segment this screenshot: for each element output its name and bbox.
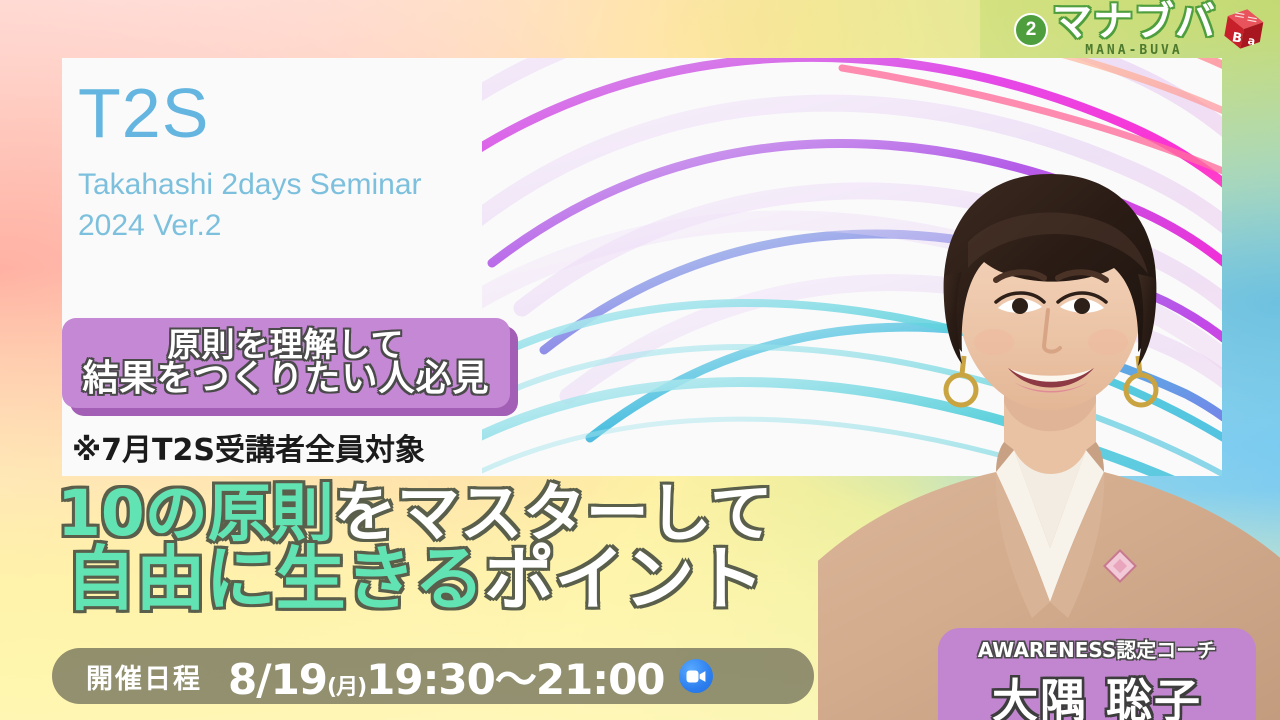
- hero-subtitle-line-1: Takahashi 2days Seminar: [78, 164, 422, 205]
- schedule-pill: 開催日程 8/19(月)19:30〜21:00: [52, 648, 814, 704]
- schedule-value: 8/19(月)19:30〜21:00: [228, 646, 665, 707]
- brand-name-roman: MANA-BUVA: [1085, 43, 1182, 58]
- schedule-time: 19:30〜21:00: [366, 646, 664, 707]
- presenter-name: 大隅 聡子: [992, 665, 1202, 720]
- hero-subtitle-line-2: 2024 Ver.2: [78, 205, 422, 246]
- highlight-badge: 原則を理解して 結果をつくりたい人必見: [62, 318, 518, 416]
- brand-cube-icon: B a: [1222, 5, 1266, 56]
- highlight-badge-body: 原則を理解して 結果をつくりたい人必見: [62, 318, 510, 408]
- brand-badge-icon: 2: [1014, 13, 1048, 47]
- schedule-label: 開催日程: [86, 657, 202, 696]
- headline-row2-accent: 自由に生きる: [66, 538, 485, 620]
- page-title: T2S: [78, 78, 422, 148]
- banner-canvas: T2S Takahashi 2days Seminar 2024 Ver.2: [0, 0, 1280, 720]
- main-headline: 10の原則をマスターして 自由に生きるポイント: [0, 484, 830, 612]
- presenter-role: AWARENESS認定コーチ: [978, 634, 1217, 663]
- schedule-date: 8/19: [228, 655, 327, 704]
- eligibility-note: ※7月T2S受講者全員対象: [72, 425, 425, 469]
- highlight-badge-line-2: 結果をつくりたい人必見: [82, 360, 489, 399]
- svg-text:a: a: [1247, 33, 1257, 47]
- zoom-video-icon[interactable]: [679, 659, 713, 693]
- brand-name-kana: マナブバ: [1052, 2, 1216, 42]
- headline-row2-rest: ポイント: [484, 538, 764, 620]
- brand-logo[interactable]: 2 マナブバ MANA-BUVA B a: [1014, 4, 1266, 56]
- presenter-nameplate: AWARENESS認定コーチ 大隅 聡子: [938, 628, 1256, 720]
- schedule-weekday: (月): [327, 669, 366, 701]
